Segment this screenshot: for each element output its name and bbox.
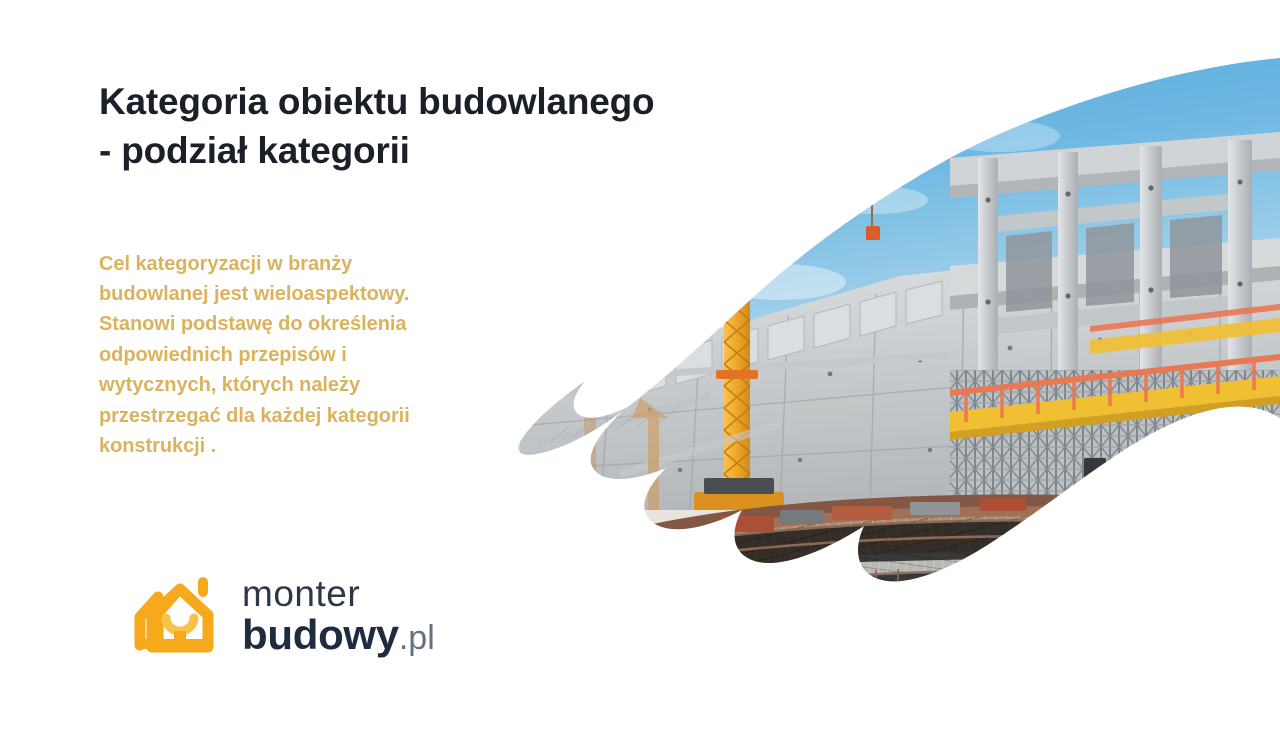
brand-logo[interactable]: monter budowy .pl [128,573,435,657]
page-title: Kategoria obiektu budowlanego - podział … [99,78,519,176]
page-title-line-1: Kategoria obiektu budowlanego [99,78,519,127]
construction-photo-svg [480,40,1280,680]
page-title-line-2: - podział kategorii [99,127,519,176]
construction-photo [480,40,1280,680]
logo-word-bottom-row: budowy .pl [242,614,435,656]
logo-wordmark: monter budowy .pl [242,575,435,656]
logo-word-monter: monter [242,575,435,612]
formwork-props [1116,500,1233,576]
logo-tld: .pl [399,621,435,655]
photo-content [480,40,1280,680]
lead-paragraph: Cel kategoryzacji w branży budowlanej je… [99,249,429,462]
slide-canvas: Kategoria obiektu budowlanego - podział … [0,0,1280,731]
house-smile-icon [128,573,228,657]
logo-word-budowy: budowy [242,614,399,656]
text-column: Kategoria obiektu budowlanego - podział … [99,78,519,461]
